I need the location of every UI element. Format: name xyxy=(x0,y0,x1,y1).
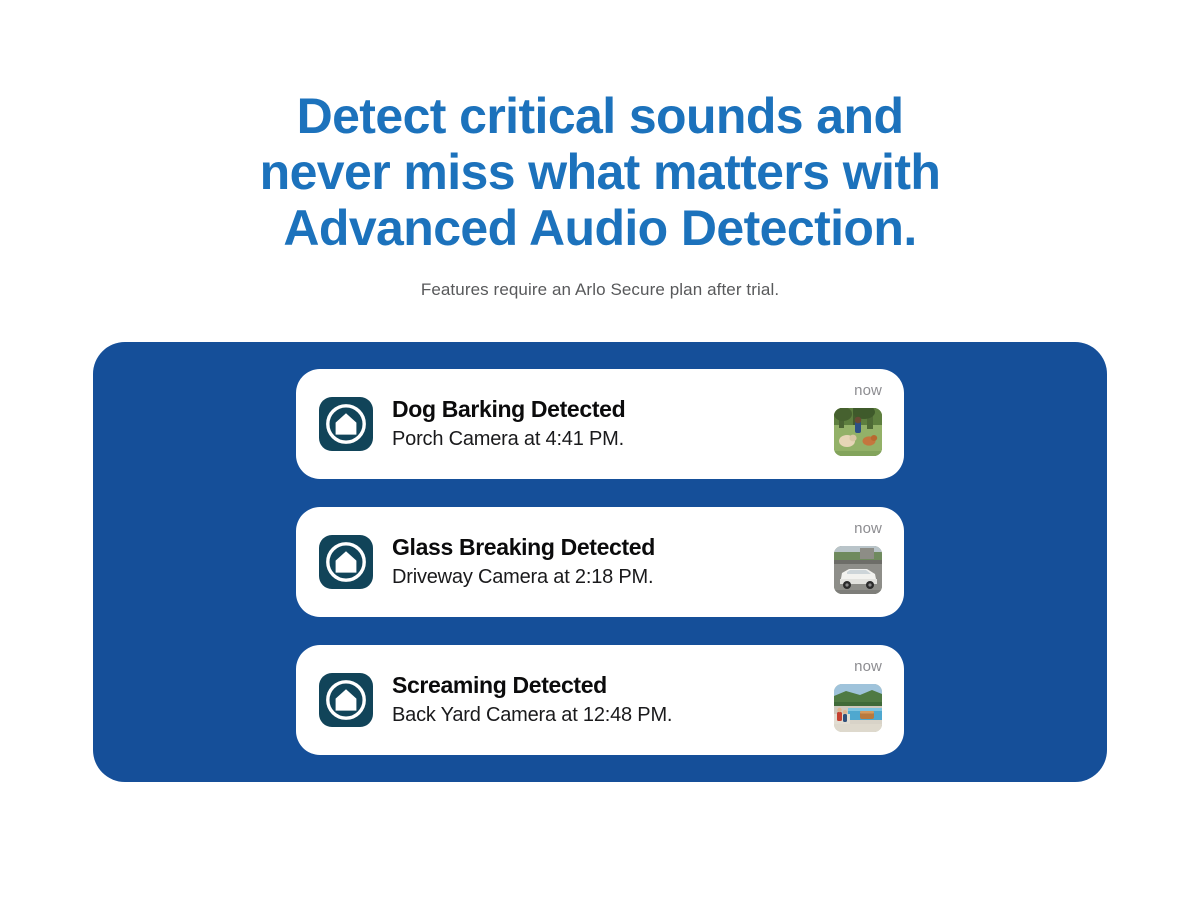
notification-showcase-panel: Dog Barking Detected Porch Camera at 4:4… xyxy=(93,342,1107,782)
notification-card[interactable]: Dog Barking Detected Porch Camera at 4:4… xyxy=(296,369,904,479)
notification-subtitle: Driveway Camera at 2:18 PM. xyxy=(392,562,830,590)
notification-title: Glass Breaking Detected xyxy=(392,533,830,562)
notification-card[interactable]: Glass Breaking Detected Driveway Camera … xyxy=(296,507,904,617)
page-subtitle: Features require an Arlo Secure plan aft… xyxy=(0,256,1200,301)
notification-text: Glass Breaking Detected Driveway Camera … xyxy=(373,533,830,592)
notification-title: Screaming Detected xyxy=(392,671,830,700)
arlo-home-icon xyxy=(319,673,373,727)
arlo-home-icon xyxy=(319,535,373,589)
notification-timestamp: now xyxy=(854,658,882,676)
driveway-camera-suv-thumbnail[interactable] xyxy=(834,546,882,594)
audio-detection-promo-page: Detect critical sounds and never miss wh… xyxy=(0,0,1200,899)
notification-text: Dog Barking Detected Porch Camera at 4:4… xyxy=(373,395,830,454)
arlo-home-icon xyxy=(319,397,373,451)
page-header: Detect critical sounds and never miss wh… xyxy=(0,88,1200,301)
headline-line-3: Advanced Audio Detection. xyxy=(0,200,1200,256)
notification-timestamp: now xyxy=(854,382,882,400)
notification-subtitle: Back Yard Camera at 12:48 PM. xyxy=(392,700,830,728)
backyard-camera-pool-thumbnail[interactable] xyxy=(834,684,882,732)
notification-card[interactable]: Screaming Detected Back Yard Camera at 1… xyxy=(296,645,904,755)
notification-subtitle: Porch Camera at 4:41 PM. xyxy=(392,424,830,452)
notification-timestamp: now xyxy=(854,520,882,538)
headline-line-1: Detect critical sounds and xyxy=(0,88,1200,144)
notification-meta: now xyxy=(830,369,882,479)
notification-text: Screaming Detected Back Yard Camera at 1… xyxy=(373,671,830,730)
porch-camera-dog-thumbnail[interactable] xyxy=(834,408,882,456)
headline-line-2: never miss what matters with xyxy=(0,144,1200,200)
page-title: Detect critical sounds and never miss wh… xyxy=(0,88,1200,256)
notification-meta: now xyxy=(830,507,882,617)
notification-meta: now xyxy=(830,645,882,755)
notification-title: Dog Barking Detected xyxy=(392,395,830,424)
